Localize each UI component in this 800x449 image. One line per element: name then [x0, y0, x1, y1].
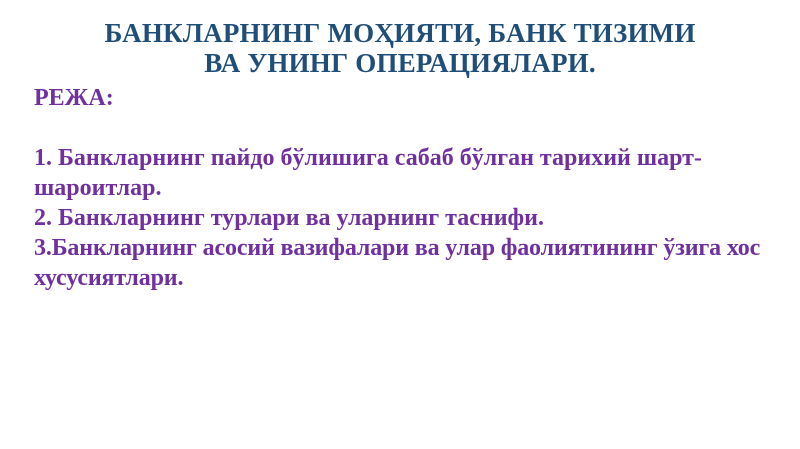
plan-list: 1. Банкларнинг пайдо бўлишига сабаб бўлг…	[34, 143, 774, 293]
slide-canvas: БАНКЛАРНИНГ МОҲИЯТИ, БАНК ТИЗИМИ ВА УНИН…	[0, 0, 800, 449]
slide-body: РЕЖА: 1. Банкларнинг пайдо бўлишига саба…	[34, 83, 774, 293]
title-line-2: ВА УНИНГ ОПЕРАЦИЯЛАРИ.	[40, 48, 760, 78]
blank-line-spacer	[34, 113, 774, 143]
title-line-1: БАНКЛАРНИНГ МОҲИЯТИ, БАНК ТИЗИМИ	[40, 18, 760, 48]
plan-item-1: 1. Банкларнинг пайдо бўлишига сабаб бўлг…	[34, 143, 774, 203]
plan-item-3: 3.Банкларнинг асосий вазифалари ва улар …	[34, 233, 774, 293]
slide-title: БАНКЛАРНИНГ МОҲИЯТИ, БАНК ТИЗИМИ ВА УНИН…	[40, 18, 760, 78]
plan-item-2: 2. Банкларнинг турлари ва уларнинг тасни…	[34, 203, 774, 233]
plan-label: РЕЖА:	[34, 83, 774, 113]
